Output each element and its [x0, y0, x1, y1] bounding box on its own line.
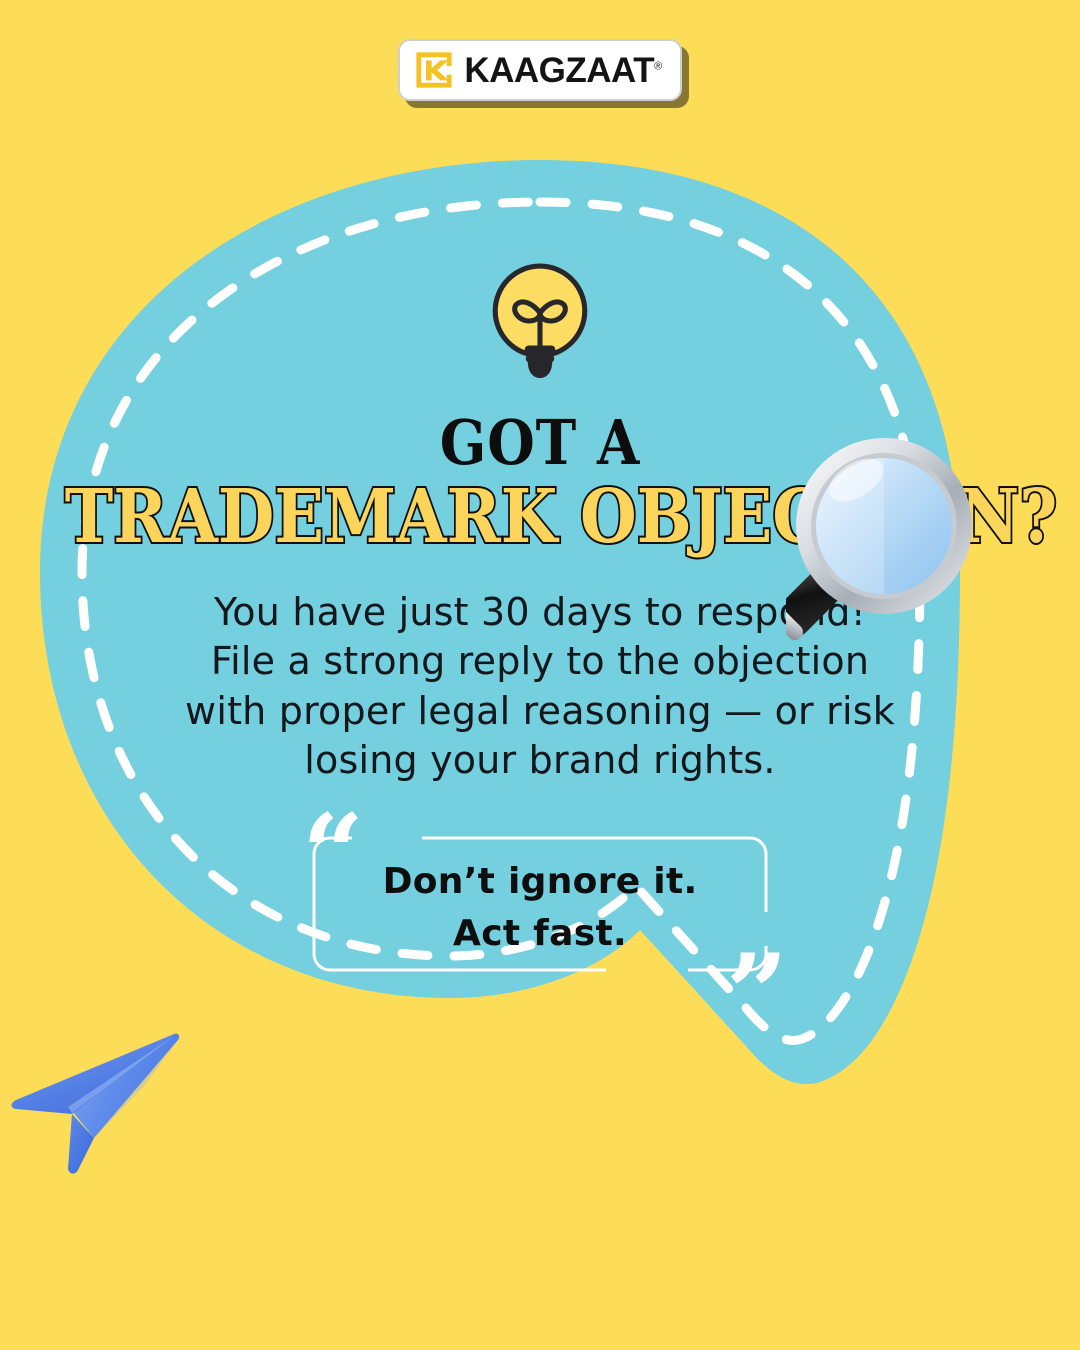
quote-line-2: Act fast. [310, 908, 770, 960]
brand-name: KAAGZAAT® [464, 53, 661, 88]
kaagzaat-k-mark-icon [414, 50, 454, 90]
quote-close-mark: ” [726, 940, 788, 1048]
logo-bar: KAAGZAAT® [0, 0, 1080, 140]
paper-plane-icon [2, 1010, 222, 1190]
brand-logo[interactable]: KAAGZAAT® [398, 39, 681, 101]
body-line-3: with proper legal reasoning — or risk [125, 687, 955, 736]
registered-mark: ® [654, 60, 662, 72]
quote-callout: “ Don’t ignore it. Act fast. ” [310, 834, 770, 974]
lightbulb-icon [484, 260, 596, 378]
quote-text: Don’t ignore it. Act fast. [310, 856, 770, 960]
magnifying-glass-icon [786, 428, 1036, 678]
quote-line-1: Don’t ignore it. [310, 856, 770, 908]
body-line-4: losing your brand rights. [125, 736, 955, 785]
brand-name-text: KAAGZAAT [464, 51, 654, 90]
